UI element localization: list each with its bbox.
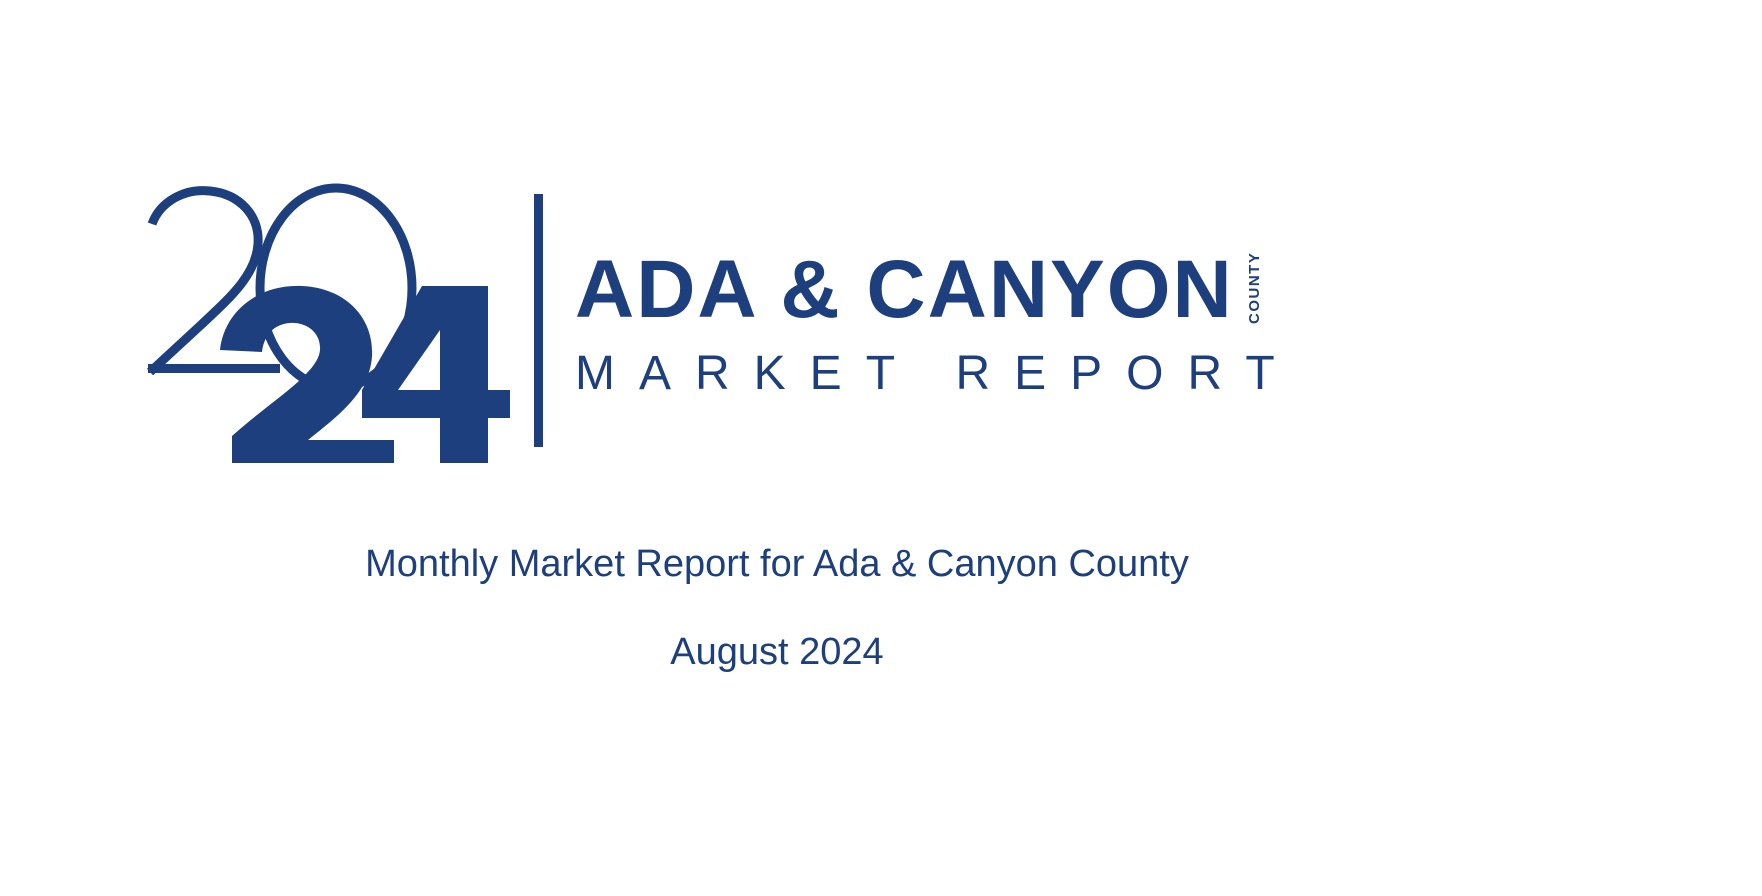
report-cover-slide: ADA & CANYON COUNTY MARKET REPORT Monthl… — [0, 0, 1762, 896]
year-2024-icon — [140, 178, 510, 463]
subtitle-date: August 2024 — [0, 633, 1554, 671]
logo-wordmark-top-line: ADA & CANYON COUNTY — [575, 246, 1580, 330]
year-solid-4 — [362, 286, 510, 463]
year-2-baseline — [148, 364, 280, 373]
year-2024-logomark — [140, 178, 510, 463]
logo-wordmark: ADA & CANYON COUNTY MARKET REPORT — [575, 178, 1580, 463]
logo-title-main: ADA & CANYON — [575, 251, 1234, 330]
logo-county-superscript: COUNTY — [1246, 246, 1263, 324]
logo-title-sub: MARKET REPORT — [575, 346, 1580, 401]
subtitle-block: Monthly Market Report for Ada & Canyon C… — [0, 545, 1554, 671]
logo-vertical-divider — [534, 194, 543, 447]
brand-logo-lockup: ADA & CANYON COUNTY MARKET REPORT — [140, 178, 1580, 463]
year-solid-2 — [220, 286, 394, 463]
subtitle-description: Monthly Market Report for Ada & Canyon C… — [0, 545, 1554, 583]
